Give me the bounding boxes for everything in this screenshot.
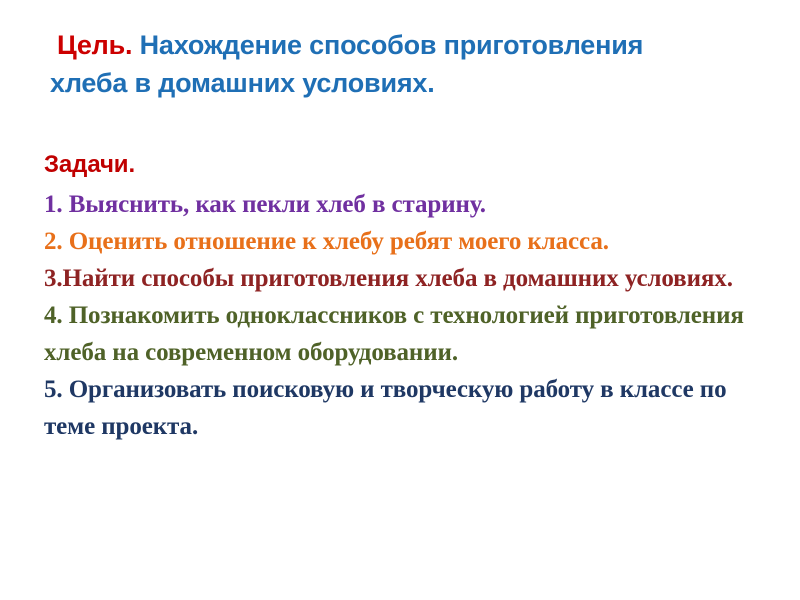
tasks-heading: Задачи. xyxy=(44,148,744,182)
task-item-2: 2. Оценить отношение к хлебу ребят моего… xyxy=(44,223,744,260)
goal-statement: Цель. Нахождение способов приготовления … xyxy=(50,26,690,102)
task-item-1: 1. Выяснить, как пекли хлеб в старину. xyxy=(44,186,744,223)
goal-text: Нахождение способов приготовления хлеба … xyxy=(50,30,643,98)
task-item-3: 3.Найти способы приготовления хлеба в до… xyxy=(44,260,744,297)
task-item-5: 5. Организовать поисковую и творческую р… xyxy=(44,371,744,445)
goal-label: Цель. xyxy=(57,30,132,60)
task-item-4: 4. Познакомить одноклассников с технолог… xyxy=(44,297,744,371)
tasks-list: Задачи. 1. Выяснить, как пекли хлеб в ст… xyxy=(44,148,744,445)
slide-canvas: Цель. Нахождение способов приготовления … xyxy=(0,0,800,600)
